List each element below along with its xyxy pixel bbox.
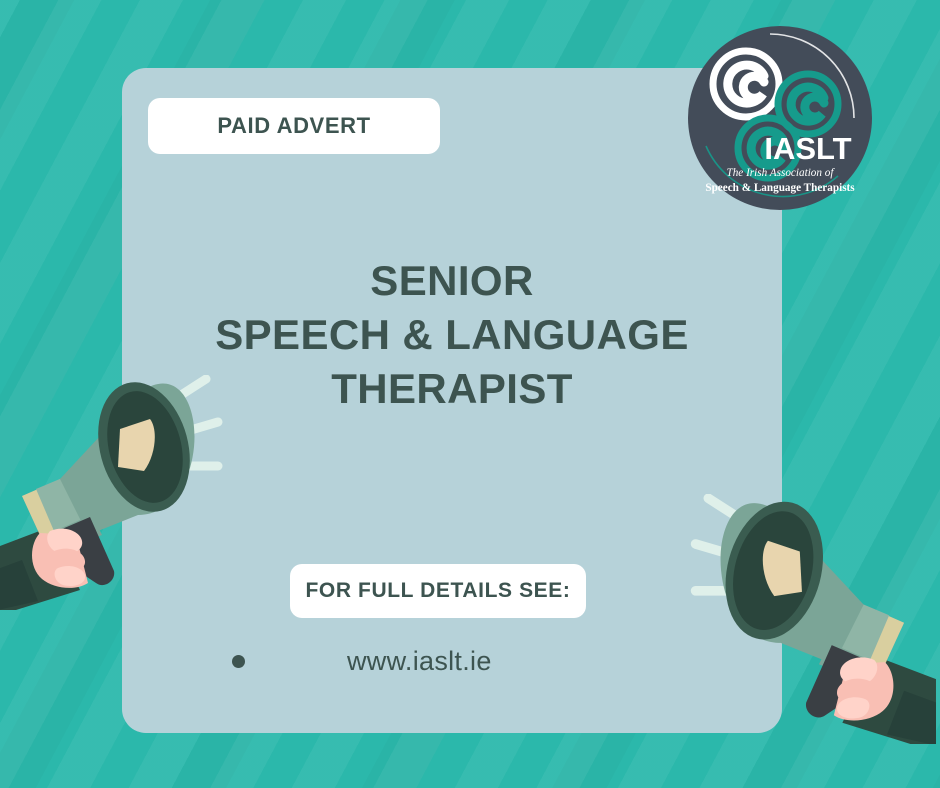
logo-tagline-line-2: Speech & Language Therapists (705, 182, 855, 194)
iaslt-logo-icon: IASLT The Irish Association of Speech & … (688, 26, 872, 210)
bullet-dot-icon (232, 655, 245, 668)
logo-acronym: IASLT (764, 131, 851, 166)
job-title-line-1: SENIOR (122, 254, 782, 308)
logo-tagline-line-1: The Irish Association of (726, 167, 835, 179)
poster-canvas: PAID ADVERT SENIOR SPEECH & LANGUAGE THE… (0, 0, 940, 788)
paid-advert-badge: PAID ADVERT (148, 98, 440, 154)
job-title-line-2: SPEECH & LANGUAGE (122, 308, 782, 362)
megaphone-icon-left (0, 375, 242, 610)
for-full-details-badge: FOR FULL DETAILS SEE: (290, 564, 586, 618)
megaphone-icon-right (668, 494, 938, 744)
website-link[interactable]: www.iaslt.ie (347, 646, 492, 677)
